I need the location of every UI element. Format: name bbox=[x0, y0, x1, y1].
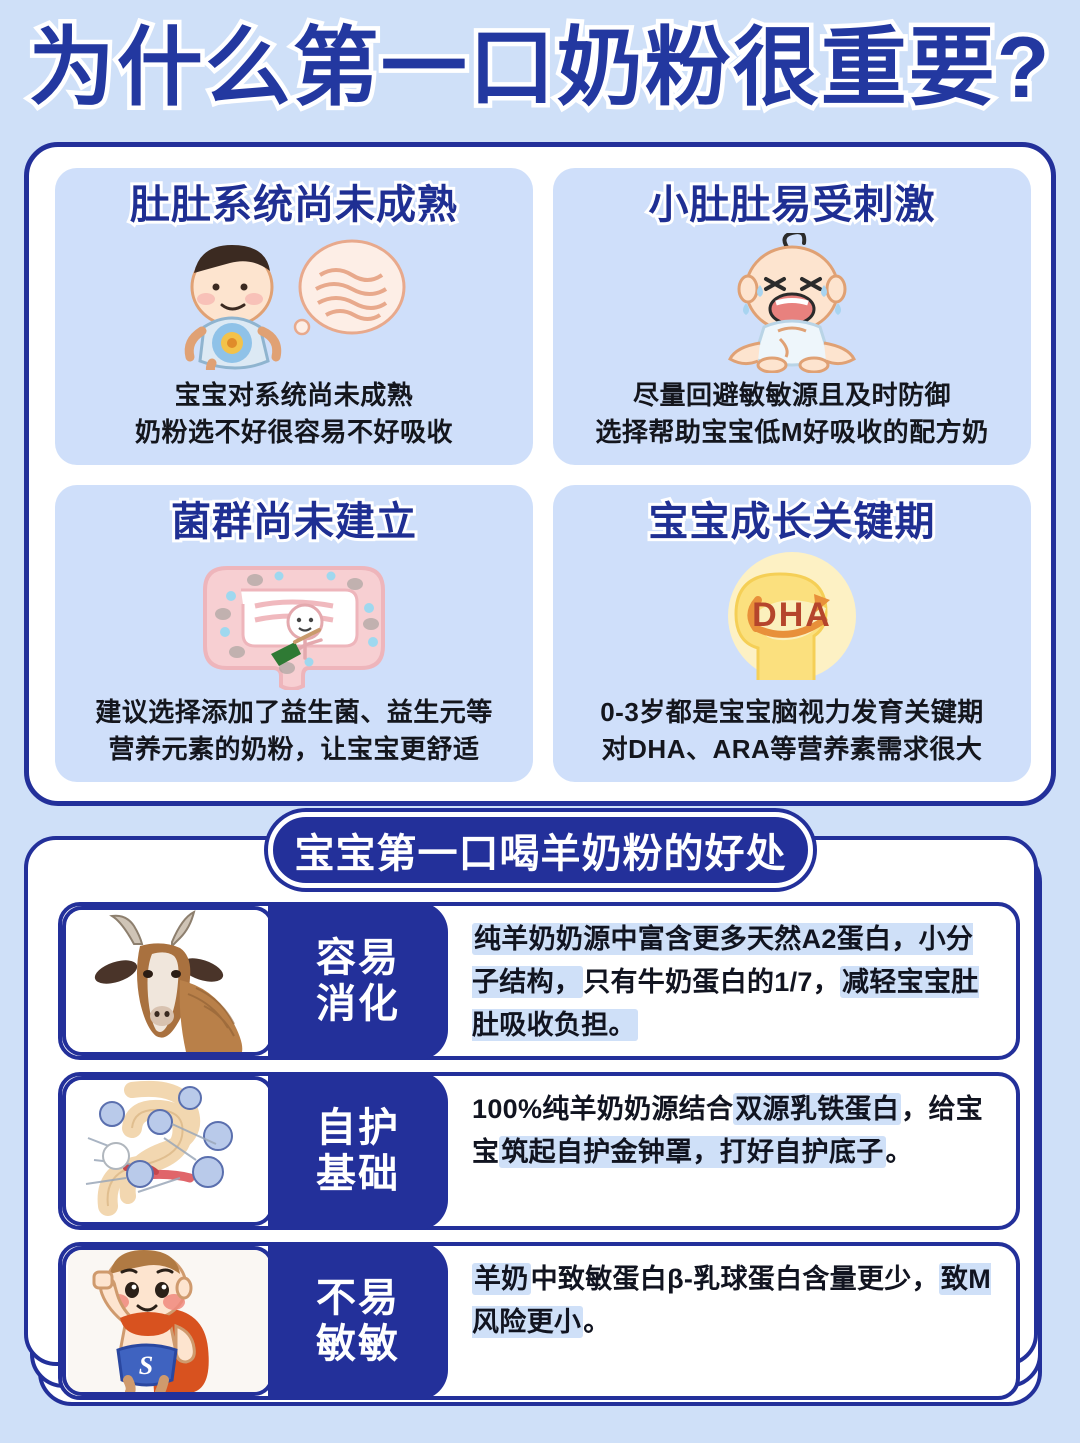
benefit-label-line1: 容易 bbox=[316, 935, 400, 981]
gut-flora-icon bbox=[55, 545, 533, 694]
reason-card: 菌群尚未建立 bbox=[55, 485, 533, 782]
benefit-row: S 不易 敏敏 羊奶中致敏蛋白β-乳球蛋白含量更少，致M风险更小。 bbox=[58, 1242, 1020, 1400]
card-description-line2: 营养元素的奶粉，让宝宝更舒适 bbox=[95, 731, 493, 768]
benefit-label: 自护 基础 bbox=[268, 1072, 448, 1230]
page-title-text: 为什么第一口奶粉很重要? bbox=[29, 25, 1052, 111]
reason-card: 肚肚系统尚未成熟 bbox=[55, 168, 533, 465]
benefit-label-line1: 不易 bbox=[316, 1275, 400, 1321]
reason-card: 宝宝成长关键期 DHA 0-3岁都是宝宝脑视力发育关键期 对DHA、ARA等营养… bbox=[553, 485, 1031, 782]
svg-text:S: S bbox=[139, 1351, 153, 1380]
benefit-row: 容易 消化 纯羊奶奶源中富含更多天然A2蛋白，小分子结构，只有牛奶蛋白的1/7，… bbox=[58, 902, 1020, 1060]
baby-with-intestine-icon bbox=[55, 228, 533, 377]
card-description: 建议选择添加了益生菌、益生元等 营养元素的奶粉，让宝宝更舒适 bbox=[95, 694, 493, 782]
card-heading: 肚肚系统尚未成熟 bbox=[130, 182, 458, 228]
card-description-line2: 奶粉选不好很容易不好吸收 bbox=[135, 414, 453, 451]
card-description: 宝宝对系统尚未成熟 奶粉选不好很容易不好吸收 bbox=[135, 377, 453, 465]
benefit-label-line2: 消化 bbox=[316, 981, 400, 1027]
benefits-list: 容易 消化 纯羊奶奶源中富含更多天然A2蛋白，小分子结构，只有牛奶蛋白的1/7，… bbox=[58, 902, 1020, 1412]
infographic-page: 为什么第一口奶粉很重要? 肚肚系统尚未成熟 bbox=[0, 0, 1080, 1443]
benefits-banner-text: 宝宝第一口喝羊奶粉的好处 bbox=[295, 821, 787, 879]
card-description: 0-3岁都是宝宝脑视力发育关键期 对DHA、ARA等营养素需求很大 bbox=[600, 694, 984, 782]
goat-photo-icon bbox=[62, 906, 274, 1056]
reason-card: 小肚肚易受刺激 bbox=[553, 168, 1031, 465]
benefit-text: 羊奶中致敏蛋白β-乳球蛋白含量更少，致M风险更小。 bbox=[448, 1242, 1020, 1400]
card-description-line2: 对DHA、ARA等营养素需求很大 bbox=[600, 731, 984, 768]
card-heading: 菌群尚未建立 bbox=[171, 499, 417, 545]
card-heading: 宝宝成长关键期 bbox=[649, 499, 936, 545]
benefit-label-line2: 基础 bbox=[316, 1151, 400, 1197]
card-heading: 小肚肚易受刺激 bbox=[649, 182, 936, 228]
benefit-label-line1: 自护 bbox=[316, 1105, 400, 1151]
card-description: 尽量回避敏敏源且及时防御 选择帮助宝宝低M好吸收的配方奶 bbox=[595, 377, 988, 465]
benefit-text: 100%纯羊奶奶源结合双源乳铁蛋白，给宝宝筑起自护金钟罩，打好自护底子。 bbox=[448, 1072, 1020, 1230]
crying-baby-icon bbox=[553, 228, 1031, 377]
benefit-label: 容易 消化 bbox=[268, 902, 448, 1060]
dha-brain-icon: DHA bbox=[553, 545, 1031, 694]
svg-text:DHA: DHA bbox=[752, 596, 832, 634]
superhero-baby-icon: S bbox=[62, 1246, 274, 1396]
reason-card-grid: 肚肚系统尚未成熟 bbox=[55, 168, 1031, 782]
card-description-line2: 选择帮助宝宝低M好吸收的配方奶 bbox=[595, 414, 988, 451]
card-description-line1: 尽量回避敏敏源且及时防御 bbox=[595, 377, 988, 414]
benefit-label: 不易 敏敏 bbox=[268, 1242, 448, 1400]
card-description-line1: 0-3岁都是宝宝脑视力发育关键期 bbox=[600, 694, 984, 731]
page-title: 为什么第一口奶粉很重要? bbox=[0, 8, 1080, 128]
benefit-text: 纯羊奶奶源中富含更多天然A2蛋白，小分子结构，只有牛奶蛋白的1/7，减轻宝宝肚肚… bbox=[448, 902, 1020, 1060]
lactoferrin-gut-icon bbox=[62, 1076, 274, 1226]
card-description-line1: 宝宝对系统尚未成熟 bbox=[135, 377, 453, 414]
benefit-label-line2: 敏敏 bbox=[316, 1321, 400, 1367]
benefit-row: 自护 基础 100%纯羊奶奶源结合双源乳铁蛋白，给宝宝筑起自护金钟罩，打好自护底… bbox=[58, 1072, 1020, 1230]
card-description-line1: 建议选择添加了益生菌、益生元等 bbox=[95, 694, 493, 731]
benefits-banner: 宝宝第一口喝羊奶粉的好处 bbox=[268, 812, 813, 888]
